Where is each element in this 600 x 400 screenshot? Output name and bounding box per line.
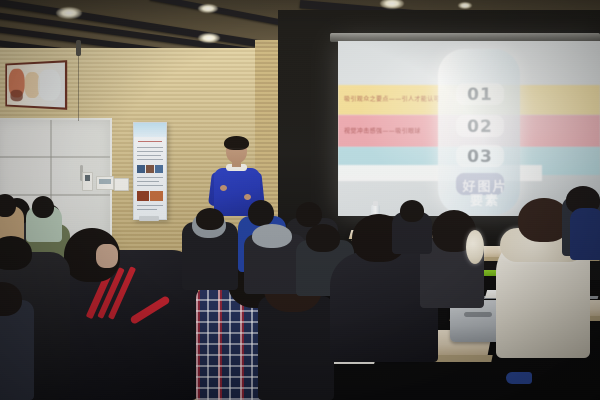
chair-handle-slot — [464, 312, 492, 317]
banner-photo — [146, 165, 154, 173]
poster-art-blob — [10, 90, 22, 102]
intercom-panel[interactable] — [82, 172, 93, 191]
ceiling-light-icon — [198, 4, 218, 13]
sensor-wire — [78, 55, 79, 121]
banner-text-line — [137, 209, 157, 210]
head — [32, 196, 54, 218]
head — [248, 200, 274, 226]
banner-photo — [137, 165, 145, 173]
rollup-banner — [133, 122, 167, 220]
banner-text-line — [137, 181, 159, 182]
head — [400, 200, 424, 222]
ceiling-light-icon — [56, 7, 82, 19]
banner-base — [139, 216, 159, 221]
presenter-hand-left — [220, 185, 227, 191]
thermostat-panel[interactable] — [96, 176, 114, 190]
hair — [306, 224, 340, 252]
ceiling-sensor-icon — [76, 40, 81, 56]
ceiling-light-icon — [458, 2, 472, 9]
bottle-cap — [373, 201, 378, 206]
fur-trim — [466, 230, 484, 264]
ceiling-light-icon — [198, 33, 220, 43]
banner-text-line — [137, 147, 163, 148]
screen-glow — [338, 41, 600, 216]
glasses-icon — [228, 148, 245, 153]
banner-text-line — [138, 141, 162, 142]
banner-text-line — [137, 177, 163, 178]
ceiling-light-icon — [380, 0, 404, 9]
head — [296, 202, 322, 227]
poster-art-blob — [38, 69, 61, 101]
sneaker — [506, 372, 532, 384]
intercom-screen — [85, 175, 90, 181]
classroom-photo: 吸引观众之要点——引人才能认可 视觉冲击感强——吸引眼球 01 02 03 好图… — [0, 0, 600, 400]
door-panel-line — [0, 194, 110, 196]
thermostat-display — [99, 179, 111, 184]
banner-text-line — [137, 205, 163, 206]
banner-text-line — [137, 151, 163, 152]
door-panel-line — [0, 156, 110, 158]
projection-screen: 吸引观众之要点——引人才能认可 视觉冲击感强——吸引眼球 01 02 03 好图… — [338, 41, 600, 216]
banner-header — [134, 123, 166, 137]
presenter-hand-right — [244, 194, 251, 200]
framed-wall-picture — [5, 60, 67, 110]
hood — [252, 224, 292, 248]
banner-photo — [155, 165, 163, 173]
head — [96, 244, 118, 268]
hair — [196, 208, 224, 230]
banner-photo — [150, 191, 163, 201]
banner-text-line — [137, 185, 163, 186]
torso — [570, 208, 600, 260]
banner-text-line — [137, 155, 161, 156]
banner-photo — [137, 191, 149, 201]
light-switch-panel[interactable] — [114, 178, 129, 191]
banner-text-line — [137, 159, 163, 160]
